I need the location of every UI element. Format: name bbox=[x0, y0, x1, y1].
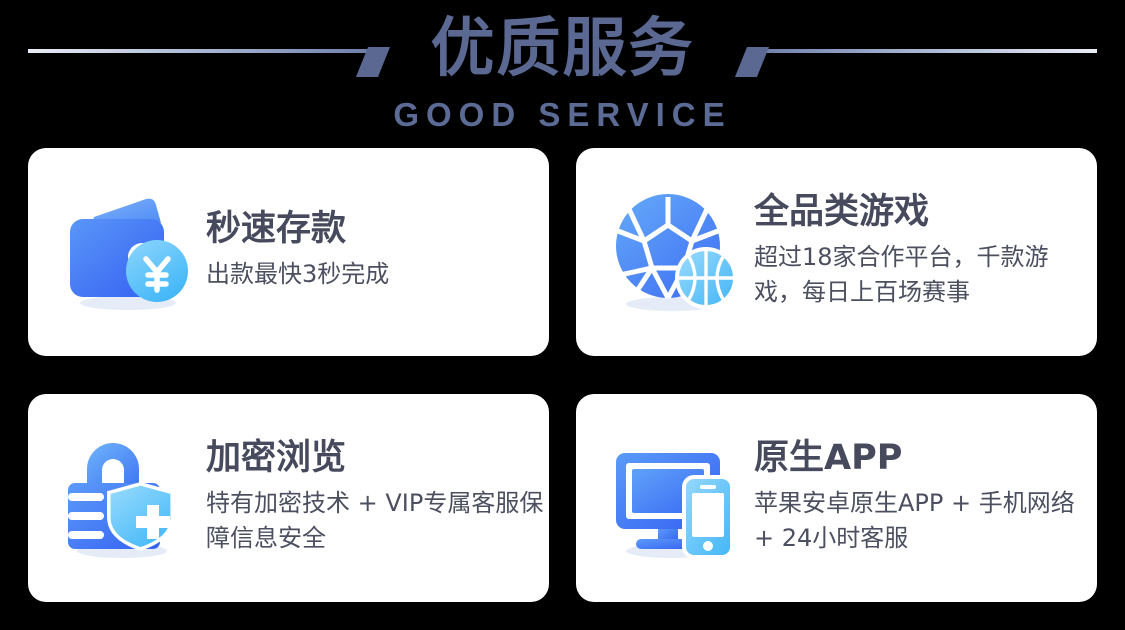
card-subtitle: 苹果安卓原生APP + 手机网络 + 24小时客服 bbox=[754, 486, 1094, 556]
feature-card-grid: 秒速存款 出款最快3秒完成 bbox=[28, 148, 1097, 602]
page-header: 优质服务 GOOD SERVICE bbox=[0, 0, 1125, 140]
card-text-block: 原生APP 苹果安卓原生APP + 手机网络 + 24小时客服 bbox=[740, 437, 1094, 560]
card-subtitle: 超过18家合作平台，千款游戏，每日上百场赛事 bbox=[754, 240, 1094, 310]
soccer-basketball-icon bbox=[610, 187, 740, 317]
card-title: 加密浏览 bbox=[206, 437, 546, 479]
card-title: 全品类游戏 bbox=[754, 191, 1094, 233]
wallet-yen-icon bbox=[62, 187, 192, 317]
card-text-block: 加密浏览 特有加密技术 + VIP专属客服保障信息安全 bbox=[192, 437, 546, 560]
feature-card-encryption[interactable]: 加密浏览 特有加密技术 + VIP专属客服保障信息安全 bbox=[28, 394, 549, 602]
feature-card-deposit[interactable]: 秒速存款 出款最快3秒完成 bbox=[28, 148, 549, 356]
page-subtitle: GOOD SERVICE bbox=[0, 96, 1125, 134]
feature-card-games[interactable]: 全品类游戏 超过18家合作平台，千款游戏，每日上百场赛事 bbox=[576, 148, 1097, 356]
card-title: 秒速存款 bbox=[206, 208, 389, 250]
page-title: 优质服务 bbox=[0, 8, 1125, 90]
card-subtitle: 出款最快3秒完成 bbox=[206, 257, 389, 292]
card-subtitle: 特有加密技术 + VIP专属客服保障信息安全 bbox=[206, 486, 546, 556]
card-text-block: 秒速存款 出款最快3秒完成 bbox=[192, 208, 389, 296]
card-text-block: 全品类游戏 超过18家合作平台，千款游戏，每日上百场赛事 bbox=[740, 191, 1094, 314]
lock-shield-icon bbox=[62, 433, 192, 563]
monitor-phone-icon bbox=[610, 433, 740, 563]
feature-card-native-app[interactable]: 原生APP 苹果安卓原生APP + 手机网络 + 24小时客服 bbox=[576, 394, 1097, 602]
card-title: 原生APP bbox=[754, 437, 1094, 479]
